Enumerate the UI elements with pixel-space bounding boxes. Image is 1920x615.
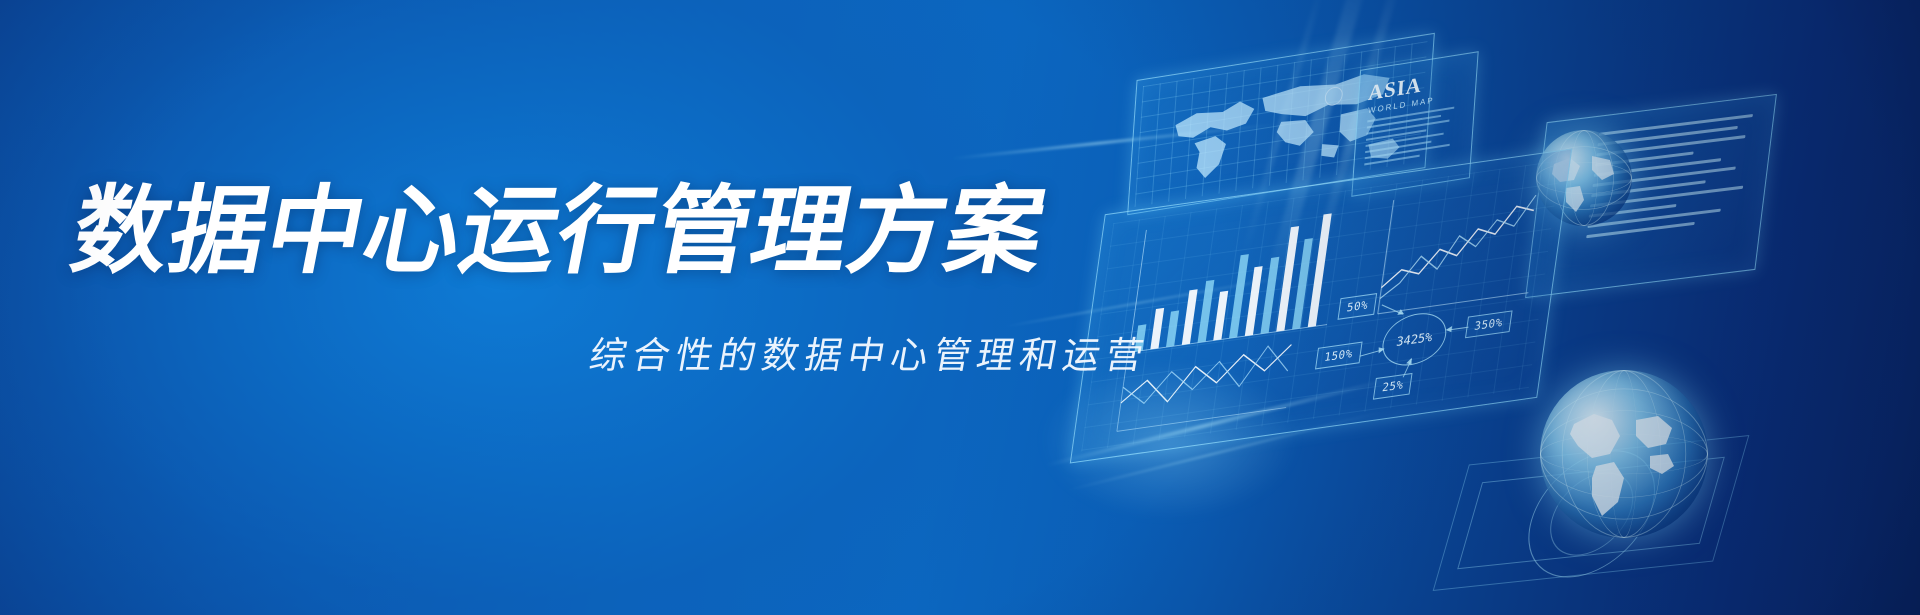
banner-text-block: 数据中心运行管理方案 综合性的数据中心管理和运营 <box>0 0 1060 615</box>
kpi-label-25: 25% <box>1373 373 1413 400</box>
globe-large-landmass <box>1540 370 1708 538</box>
kpi-total-circle: 3425% <box>1379 309 1450 369</box>
kpi-label-150: 150% <box>1315 342 1362 370</box>
tech-hud-illustration: ASIA WORLD MAP <box>980 0 1920 615</box>
hero-banner: ASIA WORLD MAP <box>0 0 1920 615</box>
kpi-label-50: 50% <box>1337 293 1377 320</box>
glow-hotspot <box>1040 360 1300 520</box>
flow-arrow <box>1360 349 1384 357</box>
page-title: 数据中心运行管理方案 <box>65 183 1084 279</box>
flow-arrow <box>1382 304 1404 314</box>
kpi-label-350: 350% <box>1465 310 1512 338</box>
globe-large-icon <box>1540 370 1708 538</box>
page-subtitle: 综合性的数据中心管理和运营 <box>587 337 1153 374</box>
asia-detail-lines <box>1364 105 1462 169</box>
